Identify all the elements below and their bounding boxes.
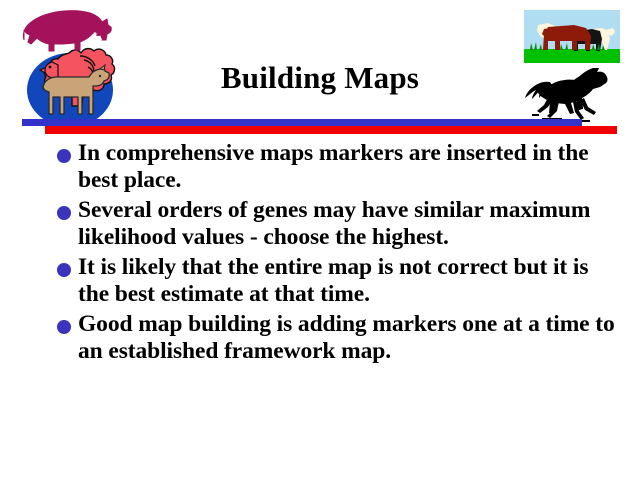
bullet-list: In comprehensive maps markers are insert… <box>0 140 640 368</box>
logo-pig-icon <box>23 11 111 51</box>
list-item: Several orders of genes may have similar… <box>0 197 640 252</box>
page-title: Building Maps <box>130 62 510 95</box>
bullet-marker-icon <box>57 320 71 334</box>
bullet-marker-icon <box>57 206 71 220</box>
list-item-label: It is likely that the entire map is not … <box>78 254 622 309</box>
list-item: In comprehensive maps markers are insert… <box>0 140 640 195</box>
galloping-horse-silhouette <box>522 68 622 124</box>
list-item: Good map building is adding markers one … <box>0 311 640 366</box>
divider-rule-blue <box>22 119 582 126</box>
list-item-label: In comprehensive maps markers are insert… <box>78 140 622 195</box>
list-item-label: Good map building is adding markers one … <box>78 311 622 366</box>
cattle-in-pasture-photo <box>524 10 620 63</box>
list-item-label: Several orders of genes may have similar… <box>78 197 622 252</box>
list-item: It is likely that the entire map is not … <box>0 254 640 309</box>
livestock-logo <box>12 4 124 124</box>
bullet-marker-icon <box>57 263 71 277</box>
divider-rule-red <box>45 126 617 134</box>
bullet-marker-icon <box>57 149 71 163</box>
slide-canvas: Building Maps <box>0 0 640 480</box>
slide-header: Building Maps <box>0 0 640 136</box>
